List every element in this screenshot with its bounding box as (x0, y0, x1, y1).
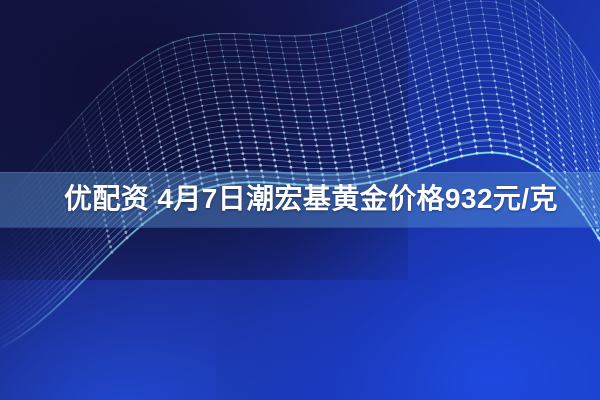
page-title: 优配资 4月7日潮宏基黄金价格932元/克 (64, 182, 558, 216)
banner-image: 优配资 4月7日潮宏基黄金价格932元/克 (0, 0, 600, 400)
